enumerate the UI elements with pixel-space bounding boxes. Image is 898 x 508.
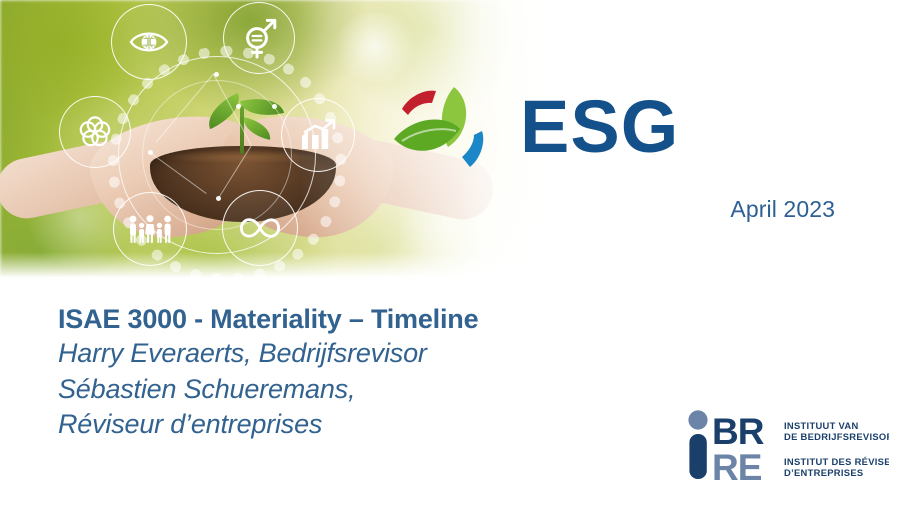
esg-leaf-mark-icon [390, 77, 494, 177]
gender-equality-icon [239, 16, 279, 60]
ibr-i-dot-icon [688, 410, 707, 429]
ibr-nl-line-1: INSTITUUT VAN [784, 420, 859, 431]
title-block: ISAE 3000 - Materiality – Timeline Harry… [58, 303, 658, 443]
family-people-icon [127, 214, 173, 244]
flower-rosette-icon [75, 112, 115, 152]
badge-gender-equality [223, 2, 295, 74]
presenter-line-3: Réviseur d’entreprises [58, 407, 658, 443]
ibr-i-stem-icon [689, 434, 706, 479]
hero-banner: ESG [0, 0, 898, 278]
eye-globe-icon [129, 29, 169, 55]
ibr-ire-logo: BR RE INSTITUUT VAN DE BEDRIJFSREVISOREN… [684, 407, 889, 483]
ibr-br-letters: BR [712, 411, 764, 452]
badge-infinity [222, 190, 298, 266]
ibr-fr-line-2: D’ENTREPRISES [784, 467, 863, 478]
hero-bottom-fade [0, 252, 600, 278]
esg-wordmark: ESG [520, 90, 679, 164]
page-title: ISAE 3000 - Materiality – Timeline [58, 303, 658, 336]
slide-date: April 2023 [730, 196, 835, 223]
badge-flower-rosette [59, 96, 131, 168]
presenter-line-2: Sébastien Schueremans, [58, 372, 658, 408]
presenter-line-1: Harry Everaerts, Bedrijfsrevisor [58, 336, 658, 372]
infinity-icon [237, 215, 283, 241]
ibr-re-letters: RE [712, 447, 762, 483]
badge-growth-chart [281, 98, 355, 172]
esg-logo: ESG [390, 72, 690, 182]
badge-family-people [113, 192, 187, 266]
growth-chart-icon [299, 118, 337, 152]
badge-eye-globe [111, 4, 187, 80]
ibr-nl-line-2: DE BEDRIJFSREVISOREN [784, 431, 889, 442]
ibr-fr-line-1: INSTITUT DES RÉVISEURS [784, 456, 889, 467]
